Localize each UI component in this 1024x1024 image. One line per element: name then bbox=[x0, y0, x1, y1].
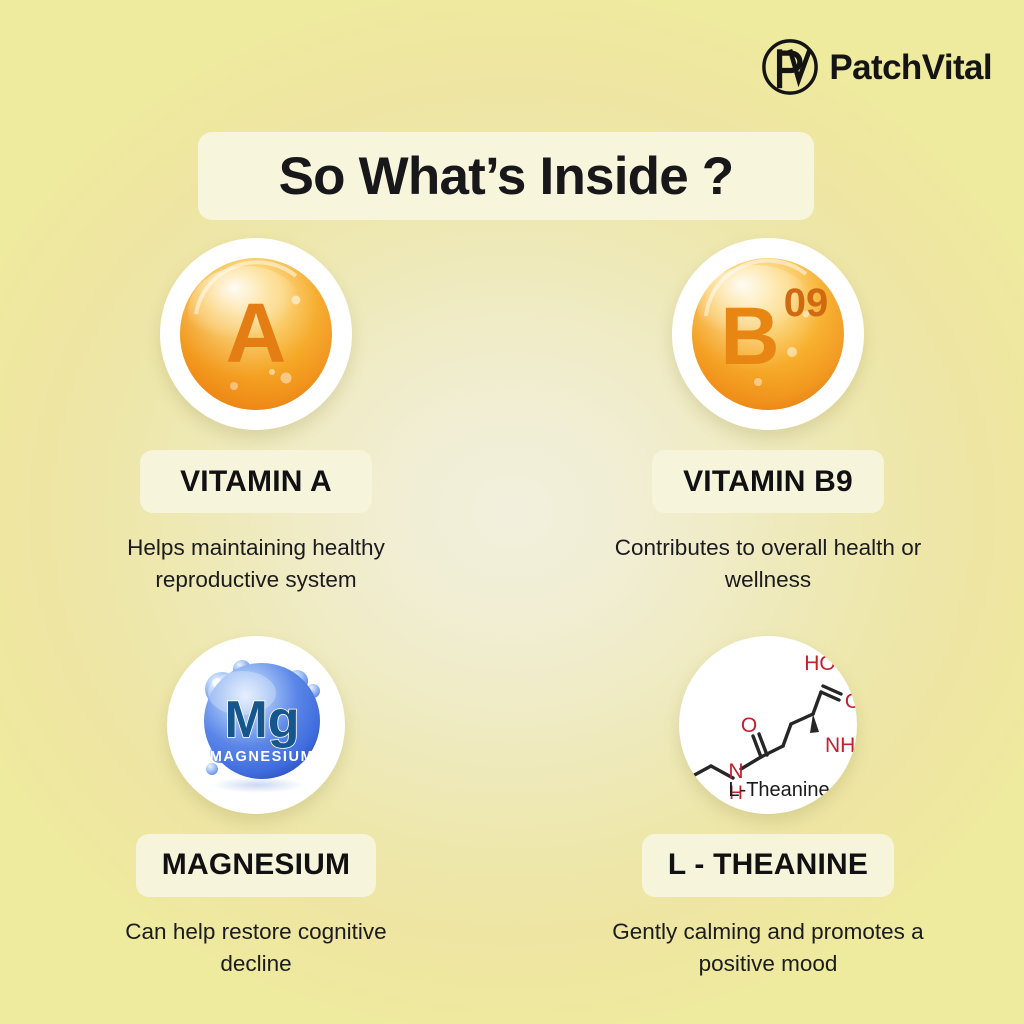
brand-name: PatchVital bbox=[829, 50, 992, 85]
pv-monogram-icon bbox=[761, 38, 819, 96]
ingredient-description: Can help restore cognitive decline bbox=[91, 916, 421, 980]
ingredient-description: Helps maintaining healthy reproductive s… bbox=[91, 532, 421, 596]
ingredient-card-vitamin-a[interactable]: A VITAMIN A Helps maintaining healthy re… bbox=[0, 238, 512, 596]
page-title-box: So What’s Inside ? bbox=[198, 132, 814, 220]
svg-text:O: O bbox=[741, 714, 757, 737]
ingredient-card-magnesium[interactable]: Mg MAGNESIUM MAGNESIUM Can help restore … bbox=[0, 632, 512, 980]
ingredient-name-pill: MAGNESIUM bbox=[136, 834, 376, 897]
svg-text:09: 09 bbox=[784, 281, 829, 325]
ingredient-description: Gently calming and promotes a positive m… bbox=[603, 916, 933, 980]
svg-text:2: 2 bbox=[856, 744, 857, 760]
svg-text:HO: HO bbox=[804, 652, 836, 675]
page-title: So What’s Inside ? bbox=[279, 150, 734, 203]
ingredient-name-pill: L - THEANINE bbox=[642, 834, 894, 897]
vitamin-a-capsule-icon: A bbox=[160, 238, 352, 430]
svg-text:B: B bbox=[720, 291, 779, 382]
magnesium-molecule-icon: Mg MAGNESIUM bbox=[167, 636, 345, 814]
l-theanine-structure-icon: HO O O N H NH 2 L-Theanine bbox=[679, 636, 857, 814]
ingredient-card-l-theanine[interactable]: HO O O N H NH 2 L-Theanine L - THEANINE … bbox=[512, 632, 1024, 980]
ingredient-grid: A VITAMIN A Helps maintaining healthy re… bbox=[0, 238, 1024, 980]
ingredient-name-pill: VITAMIN A bbox=[140, 450, 372, 513]
ingredient-name: VITAMIN B9 bbox=[683, 467, 853, 497]
vitamin-b9-capsule-icon: B 09 bbox=[672, 238, 864, 430]
ingredient-name: VITAMIN A bbox=[180, 467, 332, 497]
ingredient-name: L - THEANINE bbox=[668, 850, 868, 880]
brand-logo: PatchVital bbox=[761, 38, 992, 96]
svg-text:MAGNESIUM: MAGNESIUM bbox=[210, 749, 315, 765]
svg-text:A: A bbox=[226, 286, 287, 380]
ingredient-name: MAGNESIUM bbox=[162, 850, 350, 880]
ingredient-name-pill: VITAMIN B9 bbox=[652, 450, 884, 513]
infographic-poster: PatchVital So What’s Inside ? bbox=[0, 0, 1024, 1024]
svg-text:L-Theanine: L-Theanine bbox=[728, 779, 829, 801]
ingredient-card-vitamin-b9[interactable]: B 09 VITAMIN B9 Contributes to overall h… bbox=[512, 238, 1024, 596]
svg-text:NH: NH bbox=[825, 734, 855, 757]
svg-text:O: O bbox=[845, 690, 857, 713]
svg-text:Mg: Mg bbox=[224, 691, 299, 749]
ingredient-description: Contributes to overall health or wellnes… bbox=[603, 532, 933, 596]
